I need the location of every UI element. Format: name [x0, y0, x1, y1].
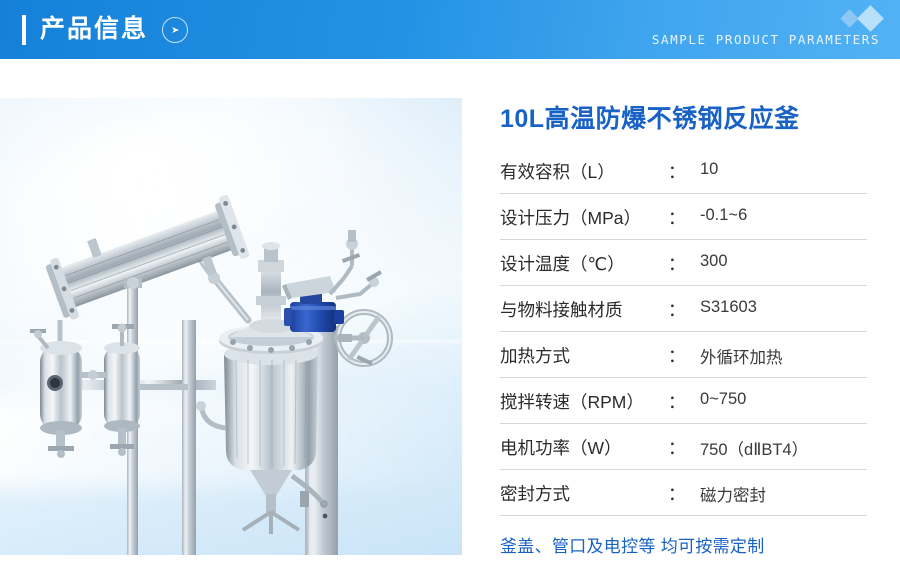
header-accent-bar	[22, 15, 26, 45]
page-title: 10L高温防爆不锈钢反应釜	[500, 104, 880, 134]
table-row: 有效容积（L） ： 10	[500, 148, 867, 194]
spec-colon: ：	[668, 251, 686, 276]
table-row: 密封方式 ： 磁力密封	[500, 470, 867, 516]
spec-label: 搅拌转速（RPM）	[500, 389, 644, 414]
spec-colon: ：	[668, 389, 686, 414]
header-diamond-decoration	[843, 9, 880, 28]
spec-label: 设计压力（MPa）	[500, 205, 641, 230]
spec-colon: ：	[668, 481, 686, 506]
spec-label: 有效容积（L）	[500, 159, 615, 184]
diamond-large-icon	[857, 5, 884, 32]
spec-colon: ：	[668, 343, 686, 368]
spec-label: 设计温度（℃）	[500, 251, 625, 276]
spec-label: 电机功率（W）	[500, 435, 622, 460]
spec-colon: ：	[668, 205, 686, 230]
table-row: 电机功率（W） ： 750（dⅡBT4）	[500, 424, 867, 470]
header-english-subtitle: SAMPLE PRODUCT PARAMETERS	[652, 32, 880, 47]
table-row: 设计温度（℃） ： 300	[500, 240, 867, 286]
spec-colon: ：	[668, 159, 686, 184]
spec-value: 0~750	[700, 390, 746, 409]
customization-note: 釜盖、管口及电控等 均可按需定制	[500, 532, 880, 557]
spec-colon: ：	[668, 435, 686, 460]
diamond-small-icon	[840, 9, 858, 27]
spec-value: -0.1~6	[700, 206, 747, 225]
table-row: 设计压力（MPa） ： -0.1~6	[500, 194, 867, 240]
play-arrow-icon[interactable]	[162, 17, 188, 43]
spec-value: 磁力密封	[700, 482, 766, 506]
header-title: 产品信息	[40, 17, 148, 42]
reactor-illustration	[0, 98, 462, 555]
spec-value: 10	[700, 160, 718, 179]
product-spec-panel: 10L高温防爆不锈钢反应釜 有效容积（L） ： 10 设计压力（MPa） ： -…	[500, 104, 880, 557]
spec-label: 加热方式	[500, 343, 570, 368]
spec-value: 300	[700, 252, 728, 271]
spec-colon: ：	[668, 297, 686, 322]
spec-label: 密封方式	[500, 481, 570, 506]
spec-label: 与物料接触材质	[500, 297, 623, 322]
table-row: 搅拌转速（RPM） ： 0~750	[500, 378, 867, 424]
spec-value: 外循环加热	[700, 344, 783, 368]
header-title-group: 产品信息	[22, 0, 188, 59]
table-row: 加热方式 ： 外循环加热	[500, 332, 867, 378]
table-row: 与物料接触材质 ： S31603	[500, 286, 867, 332]
spec-value: 750（dⅡBT4）	[700, 436, 808, 460]
spec-value: S31603	[700, 298, 757, 317]
page-header: 产品信息 SAMPLE PRODUCT PARAMETERS	[0, 0, 900, 59]
product-image	[0, 98, 462, 555]
